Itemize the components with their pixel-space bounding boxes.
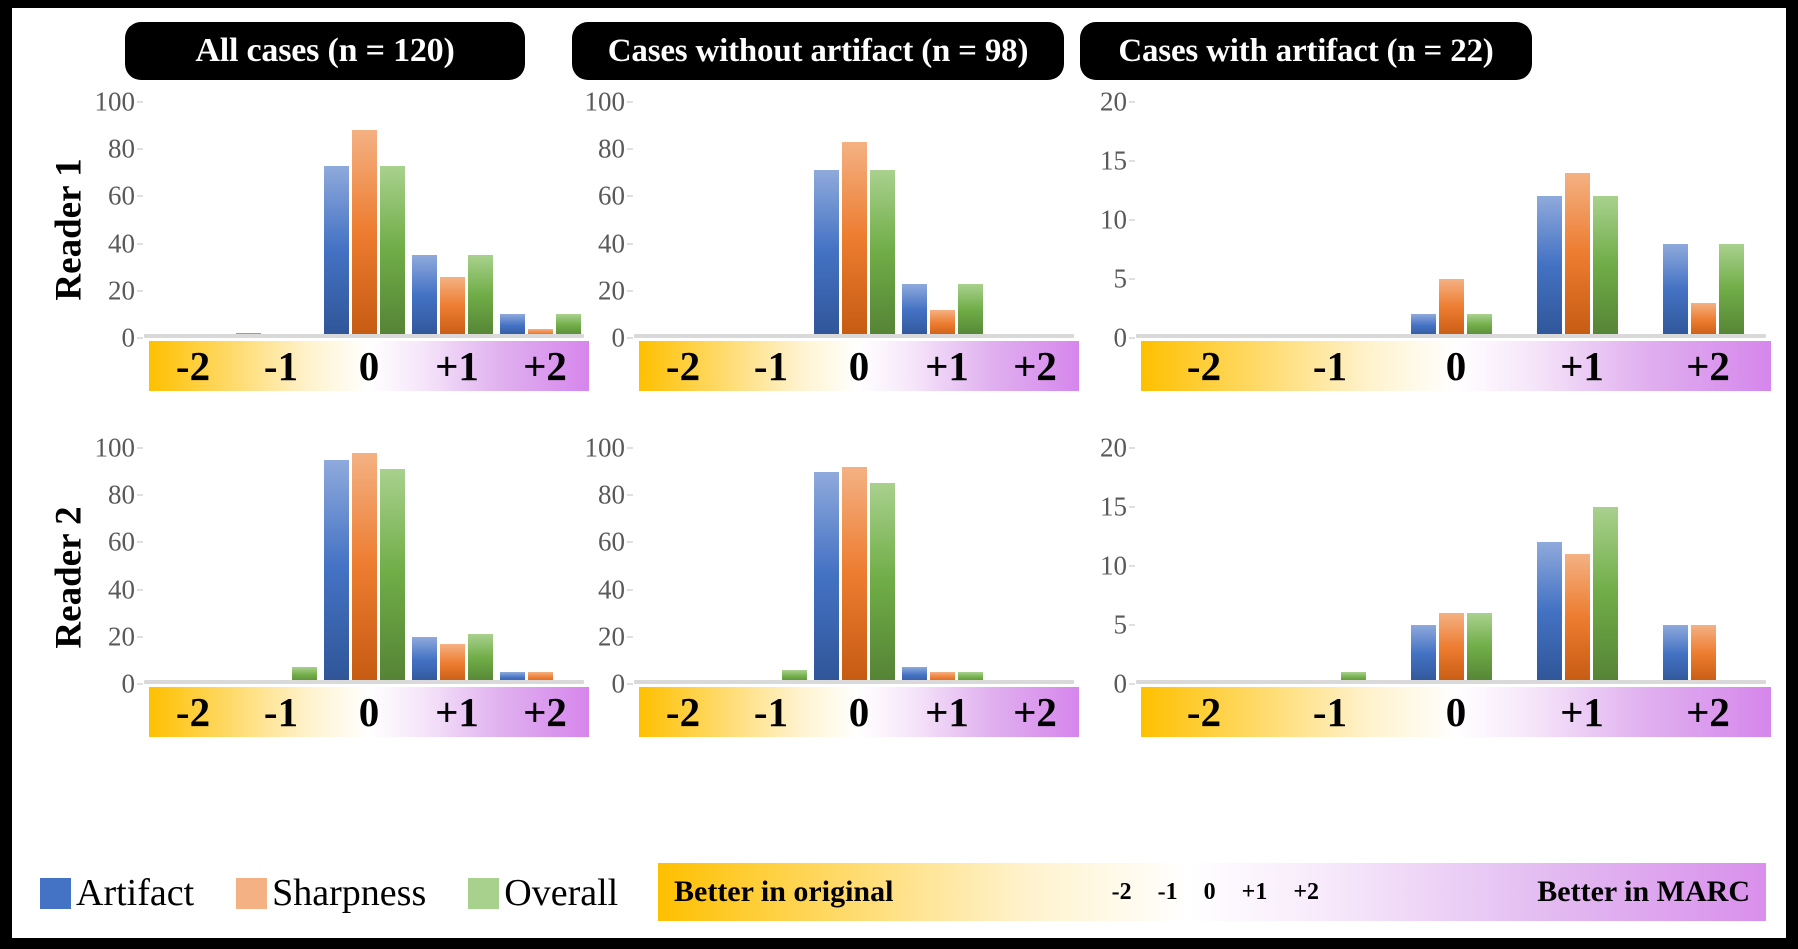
- bar-overall: [468, 255, 493, 338]
- y-axis-tick-label: 0: [122, 669, 136, 700]
- y-axis-tick-label: 40: [108, 228, 135, 259]
- y-axis-tick-mark: [627, 102, 633, 103]
- y-axis-tick-label: 100: [95, 87, 136, 118]
- y-axis-tick-label: 80: [108, 134, 135, 165]
- bar-overall: [1593, 196, 1618, 338]
- scale-legend-left-text: Better in original: [674, 875, 893, 909]
- chart-panel: 020406080100: [144, 448, 584, 684]
- likert-tick-plus2: +2: [991, 692, 1079, 733]
- y-axis-tick-label: 80: [108, 480, 135, 511]
- y-axis-tick-mark: [137, 636, 143, 637]
- bar-sharpness: [1439, 279, 1464, 338]
- legend-item-overall: Overall: [468, 874, 618, 912]
- y-axis-tick-label: 15: [1100, 146, 1127, 177]
- y-axis-tick-label: 10: [1100, 551, 1127, 582]
- y-axis-tick-mark: [137, 102, 143, 103]
- bar-overall: [468, 634, 493, 684]
- likert-scale-band: -2-10+1+2: [149, 341, 589, 391]
- bar-group: [1136, 448, 1262, 684]
- plot-area: [1136, 448, 1766, 684]
- bar-group: [1388, 102, 1514, 338]
- y-axis-tick-mark: [1129, 102, 1135, 103]
- bar-group: [810, 102, 898, 338]
- legend-label-overall: Overall: [504, 874, 618, 912]
- y-axis-tick-label: 40: [598, 574, 625, 605]
- likert-tick-minus1: -1: [237, 346, 325, 387]
- likert-tick-minus2: -2: [1141, 692, 1267, 733]
- y-axis-tick-label: 80: [598, 134, 625, 165]
- legend-label-artifact: Artifact: [76, 874, 194, 912]
- panel-title-text: All cases (n = 120): [195, 32, 454, 70]
- bar-group: [320, 102, 408, 338]
- y-axis-tick-mark: [1129, 161, 1135, 162]
- legend-swatch-overall: [468, 878, 499, 909]
- y-axis-tick-mark: [627, 448, 633, 449]
- likert-tick-plus2: +2: [1645, 346, 1771, 387]
- bar-group: [496, 448, 584, 684]
- likert-tick-minus2: -2: [149, 692, 237, 733]
- bar-sharpness: [1565, 554, 1590, 684]
- likert-scale-band: -2-10+1+2: [1141, 687, 1771, 737]
- likert-tick-plus1: +1: [1519, 692, 1645, 733]
- likert-tick-plus1: +1: [413, 692, 501, 733]
- bar-artifact: [902, 284, 927, 338]
- y-axis-tick-mark: [1129, 625, 1135, 626]
- y-axis-tick-mark: [627, 495, 633, 496]
- y-axis-tick-label: 20: [108, 621, 135, 652]
- y-axis-tick-label: 0: [1114, 669, 1128, 700]
- scale-tick-minus2: -2: [1112, 879, 1132, 906]
- bar-artifact: [814, 472, 839, 684]
- bar-artifact: [324, 460, 349, 684]
- panel-title-cases-without-artifact: Cases without artifact (n = 98): [572, 22, 1064, 80]
- y-axis-tick-mark: [1129, 220, 1135, 221]
- y-axis-tick-mark: [627, 196, 633, 197]
- likert-tick-plus1: +1: [903, 346, 991, 387]
- bar-overall: [958, 284, 983, 338]
- bar-overall: [870, 170, 895, 338]
- likert-scale-band: -2-10+1+2: [1141, 341, 1771, 391]
- y-axis-tick-label: 20: [598, 275, 625, 306]
- bar-group: [986, 102, 1074, 338]
- likert-scale-band: -2-10+1+2: [639, 687, 1079, 737]
- bar-artifact: [1537, 196, 1562, 338]
- scale-legend: Better in original -2 -1 0 +1 +2 Better …: [658, 863, 1766, 921]
- likert-tick-minus1: -1: [727, 346, 815, 387]
- y-axis-tick-mark: [1129, 448, 1135, 449]
- bar-artifact: [324, 166, 349, 338]
- y-axis-tick-mark: [627, 338, 633, 339]
- y-axis-tick-label: 5: [1114, 610, 1128, 641]
- likert-tick-minus1: -1: [727, 692, 815, 733]
- likert-tick-plus2: +2: [501, 692, 589, 733]
- bar-overall: [380, 469, 405, 684]
- y-axis-tick-label: 100: [95, 433, 136, 464]
- legend-swatch-sharpness: [236, 878, 267, 909]
- y-axis-tick-mark: [137, 149, 143, 150]
- likert-scale-band: -2-10+1+2: [639, 341, 1079, 391]
- y-axis-tick-label: 60: [598, 527, 625, 558]
- x-axis-baseline: [1136, 334, 1766, 338]
- likert-tick-minus1: -1: [1267, 692, 1393, 733]
- y-axis-tick-mark: [1129, 507, 1135, 508]
- likert-tick-plus1: +1: [1519, 346, 1645, 387]
- plot-area: [634, 102, 1074, 338]
- bar-group: [722, 102, 810, 338]
- likert-tick-minus2: -2: [639, 346, 727, 387]
- y-axis-tick-mark: [137, 338, 143, 339]
- series-legend: Artifact Sharpness Overall: [40, 874, 660, 912]
- y-axis-tick-mark: [137, 196, 143, 197]
- plot-area: [634, 448, 1074, 684]
- y-axis-tick-mark: [137, 243, 143, 244]
- y-axis-tick-label: 0: [612, 323, 626, 354]
- bar-group: [810, 448, 898, 684]
- scale-tick-plus1: +1: [1242, 879, 1268, 906]
- y-axis-tick-mark: [137, 542, 143, 543]
- likert-tick-plus2: +2: [991, 346, 1079, 387]
- legend-label-sharpness: Sharpness: [272, 874, 426, 912]
- panel-title-all-cases: All cases (n = 120): [125, 22, 525, 80]
- y-axis-tick-mark: [1129, 684, 1135, 685]
- likert-tick-0: 0: [325, 692, 413, 733]
- bar-group: [1388, 448, 1514, 684]
- legend-item-sharpness: Sharpness: [236, 874, 426, 912]
- bar-group: [320, 448, 408, 684]
- y-axis-tick-mark: [137, 495, 143, 496]
- y-axis-tick-mark: [137, 589, 143, 590]
- x-axis-baseline: [144, 680, 584, 684]
- scale-legend-ticks: -2 -1 0 +1 +2: [1112, 879, 1319, 906]
- bar-artifact: [1411, 625, 1436, 684]
- bar-group: [1514, 448, 1640, 684]
- y-axis-tick-label: 80: [598, 480, 625, 511]
- bar-group: [144, 102, 232, 338]
- bar-group: [898, 102, 986, 338]
- y-axis-tick-label: 100: [585, 87, 626, 118]
- y-axis-tick-label: 100: [585, 433, 626, 464]
- bar-sharpness: [1691, 625, 1716, 684]
- plot-area: [1136, 102, 1766, 338]
- likert-tick-plus1: +1: [903, 692, 991, 733]
- likert-tick-plus2: +2: [501, 346, 589, 387]
- panel-title-text: Cases with artifact (n = 22): [1118, 33, 1493, 70]
- scale-tick-plus2: +2: [1293, 879, 1319, 906]
- y-axis-tick-label: 60: [108, 181, 135, 212]
- bar-artifact: [412, 255, 437, 338]
- bar-sharpness: [1691, 303, 1716, 338]
- row-label-reader-1: Reader 1: [48, 130, 91, 330]
- chart-panel: 020406080100: [144, 102, 584, 338]
- likert-tick-minus2: -2: [1141, 346, 1267, 387]
- scale-tick-minus1: -1: [1158, 879, 1178, 906]
- scale-tick-zero: 0: [1204, 879, 1216, 906]
- bar-overall: [870, 483, 895, 684]
- bar-group: [144, 448, 232, 684]
- scale-legend-right-text: Better in MARC: [1537, 875, 1750, 909]
- y-axis-tick-mark: [137, 448, 143, 449]
- bar-group: [1640, 102, 1766, 338]
- y-axis-tick-mark: [1129, 279, 1135, 280]
- likert-tick-plus1: +1: [413, 346, 501, 387]
- legend-item-artifact: Artifact: [40, 874, 194, 912]
- y-axis-tick-mark: [627, 149, 633, 150]
- bar-group: [898, 448, 986, 684]
- bar-group: [1640, 448, 1766, 684]
- bar-group: [232, 102, 320, 338]
- bar-group: [634, 448, 722, 684]
- bar-artifact: [814, 170, 839, 338]
- row-label-reader-2: Reader 2: [48, 478, 91, 678]
- y-axis-tick-label: 20: [1100, 87, 1127, 118]
- y-axis-tick-label: 40: [598, 228, 625, 259]
- bar-group: [1514, 102, 1640, 338]
- plot-area: [144, 102, 584, 338]
- likert-tick-0: 0: [815, 692, 903, 733]
- y-axis-tick-label: 15: [1100, 492, 1127, 523]
- y-axis-tick-label: 0: [1114, 323, 1128, 354]
- bar-sharpness: [440, 277, 465, 338]
- likert-tick-minus1: -1: [1267, 346, 1393, 387]
- bar-group: [1136, 102, 1262, 338]
- chart-panel: 020406080100: [634, 448, 1074, 684]
- panel-title-text: Cases without artifact (n = 98): [608, 33, 1028, 70]
- y-axis-tick-mark: [1129, 338, 1135, 339]
- likert-tick-0: 0: [1393, 692, 1519, 733]
- y-axis-tick-mark: [137, 684, 143, 685]
- bar-artifact: [1663, 244, 1688, 338]
- legend-swatch-artifact: [40, 878, 71, 909]
- bar-sharpness: [1565, 173, 1590, 338]
- y-axis-tick-label: 20: [1100, 433, 1127, 464]
- row-label-text: Reader 1: [49, 158, 90, 300]
- y-axis-tick-label: 60: [598, 181, 625, 212]
- bar-overall: [1719, 244, 1744, 338]
- chart-panel: 05101520: [1136, 448, 1766, 684]
- y-axis-tick-mark: [627, 589, 633, 590]
- bar-artifact: [1537, 542, 1562, 684]
- y-axis-tick-label: 0: [612, 669, 626, 700]
- x-axis-baseline: [144, 334, 584, 338]
- bar-group: [986, 448, 1074, 684]
- bar-sharpness: [352, 453, 377, 684]
- panel-title-cases-with-artifact: Cases with artifact (n = 22): [1080, 22, 1532, 80]
- likert-tick-0: 0: [815, 346, 903, 387]
- bar-sharpness: [440, 644, 465, 684]
- row-label-text: Reader 2: [49, 506, 90, 648]
- y-axis-tick-label: 20: [598, 621, 625, 652]
- likert-tick-0: 0: [325, 346, 413, 387]
- likert-tick-minus2: -2: [639, 692, 727, 733]
- y-axis-tick-label: 10: [1100, 205, 1127, 236]
- x-axis-baseline: [1136, 680, 1766, 684]
- bar-overall: [1467, 613, 1492, 684]
- x-axis-baseline: [634, 680, 1074, 684]
- plot-area: [144, 448, 584, 684]
- bar-group: [408, 102, 496, 338]
- likert-scale-band: -2-10+1+2: [149, 687, 589, 737]
- bar-sharpness: [842, 467, 867, 684]
- y-axis-tick-label: 60: [108, 527, 135, 558]
- likert-tick-plus2: +2: [1645, 692, 1771, 733]
- likert-tick-minus1: -1: [237, 692, 325, 733]
- bar-group: [232, 448, 320, 684]
- y-axis-tick-mark: [627, 636, 633, 637]
- bar-group: [496, 102, 584, 338]
- chart-panel: 05101520: [1136, 102, 1766, 338]
- y-axis-tick-mark: [627, 684, 633, 685]
- bar-artifact: [412, 637, 437, 684]
- bar-group: [722, 448, 810, 684]
- y-axis-tick-mark: [627, 290, 633, 291]
- bar-sharpness: [842, 142, 867, 338]
- bar-sharpness: [352, 130, 377, 338]
- bar-artifact: [1663, 625, 1688, 684]
- bar-sharpness: [1439, 613, 1464, 684]
- chart-panel: 020406080100: [634, 102, 1074, 338]
- x-axis-baseline: [634, 334, 1074, 338]
- bar-overall: [1593, 507, 1618, 684]
- bar-group: [1262, 448, 1388, 684]
- bar-group: [1262, 102, 1388, 338]
- y-axis-tick-label: 5: [1114, 264, 1128, 295]
- likert-tick-minus2: -2: [149, 346, 237, 387]
- bar-group: [408, 448, 496, 684]
- y-axis-tick-label: 0: [122, 323, 136, 354]
- y-axis-tick-label: 40: [108, 574, 135, 605]
- y-axis-tick-label: 20: [108, 275, 135, 306]
- likert-tick-0: 0: [1393, 346, 1519, 387]
- y-axis-tick-mark: [137, 290, 143, 291]
- y-axis-tick-mark: [627, 243, 633, 244]
- figure-canvas: All cases (n = 120) Cases without artifa…: [12, 8, 1786, 938]
- bar-group: [634, 102, 722, 338]
- y-axis-tick-mark: [627, 542, 633, 543]
- bar-overall: [380, 166, 405, 338]
- y-axis-tick-mark: [1129, 566, 1135, 567]
